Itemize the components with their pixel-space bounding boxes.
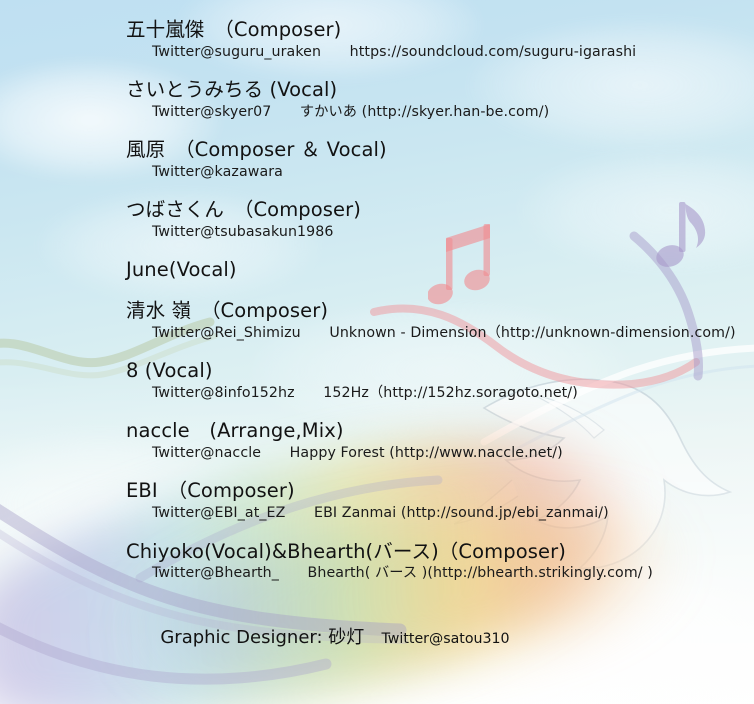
credit-entry: 風原 （Composer ＆ Vocal) Twitter@kazawara xyxy=(0,138,754,181)
credit-sub: Twitter@8info152hz 152Hz（http://152hz.so… xyxy=(152,385,754,402)
credit-entry: naccle (Arrange,Mix) Twitter@naccle Happ… xyxy=(0,419,754,462)
credits-list: 五十嵐傑 （Composer) Twitter@suguru_uraken ht… xyxy=(0,0,754,672)
credit-entry: June(Vocal) xyxy=(0,258,754,282)
credit-name: 清水 嶺 （Composer) xyxy=(126,299,754,323)
credit-sub: Twitter@Bhearth_ Bhearth( バース )(http://b… xyxy=(152,565,754,582)
credit-entry: つばさくん （Composer) Twitter@tsubasakun1986 xyxy=(0,198,754,241)
credit-entry: さいとうみちる (Vocal) Twitter@skyer07 すかいあ (ht… xyxy=(0,78,754,121)
credit-name: つばさくん （Composer) xyxy=(126,198,754,222)
credit-name: 8 (Vocal) xyxy=(126,359,754,383)
credit-entry: 五十嵐傑 （Composer) Twitter@suguru_uraken ht… xyxy=(0,18,754,61)
credit-name: 風原 （Composer ＆ Vocal) xyxy=(126,138,754,162)
credit-name: さいとうみちる (Vocal) xyxy=(126,78,754,102)
credit-sub: Twitter@skyer07 すかいあ (http://skyer.han-b… xyxy=(152,104,754,121)
credit-sub: Twitter@EBI_at_EZ EBI Zanmai (http://sou… xyxy=(152,505,754,522)
credit-sub: Twitter@naccle Happy Forest (http://www.… xyxy=(152,445,754,462)
credit-name: EBI （Composer) xyxy=(126,479,754,503)
credit-sub: Twitter@Rei_Shimizu Unknown - Dimension（… xyxy=(152,325,754,342)
credit-sub: Twitter@tsubasakun1986 xyxy=(152,224,754,241)
credit-name: Chiyoko(Vocal)&Bhearth(バース)（Composer) xyxy=(126,540,754,564)
credit-entry: EBI （Composer) Twitter@EBI_at_EZ EBI Zan… xyxy=(0,479,754,522)
credit-entry: 清水 嶺 （Composer) Twitter@Rei_Shimizu Unkn… xyxy=(0,299,754,342)
credit-name: 五十嵐傑 （Composer) xyxy=(126,18,754,42)
credit-name: June(Vocal) xyxy=(126,258,754,282)
designer-handle: Twitter@satou310 xyxy=(381,631,509,647)
credit-entry: Chiyoko(Vocal)&Bhearth(バース)（Composer) Tw… xyxy=(0,540,754,583)
designer-label: Graphic Designer: 砂灯 xyxy=(160,627,364,648)
credit-name: naccle (Arrange,Mix) xyxy=(126,419,754,443)
credit-sub: Twitter@suguru_uraken https://soundcloud… xyxy=(152,44,754,61)
credit-entry: 8 (Vocal) Twitter@8info152hz 152Hz（http:… xyxy=(0,359,754,402)
credits-page: 五十嵐傑 （Composer) Twitter@suguru_uraken ht… xyxy=(0,0,754,704)
credit-sub: Twitter@kazawara xyxy=(152,164,754,181)
graphic-designer-credit: Graphic Designer: 砂灯 Twitter@satou310 xyxy=(126,605,754,673)
